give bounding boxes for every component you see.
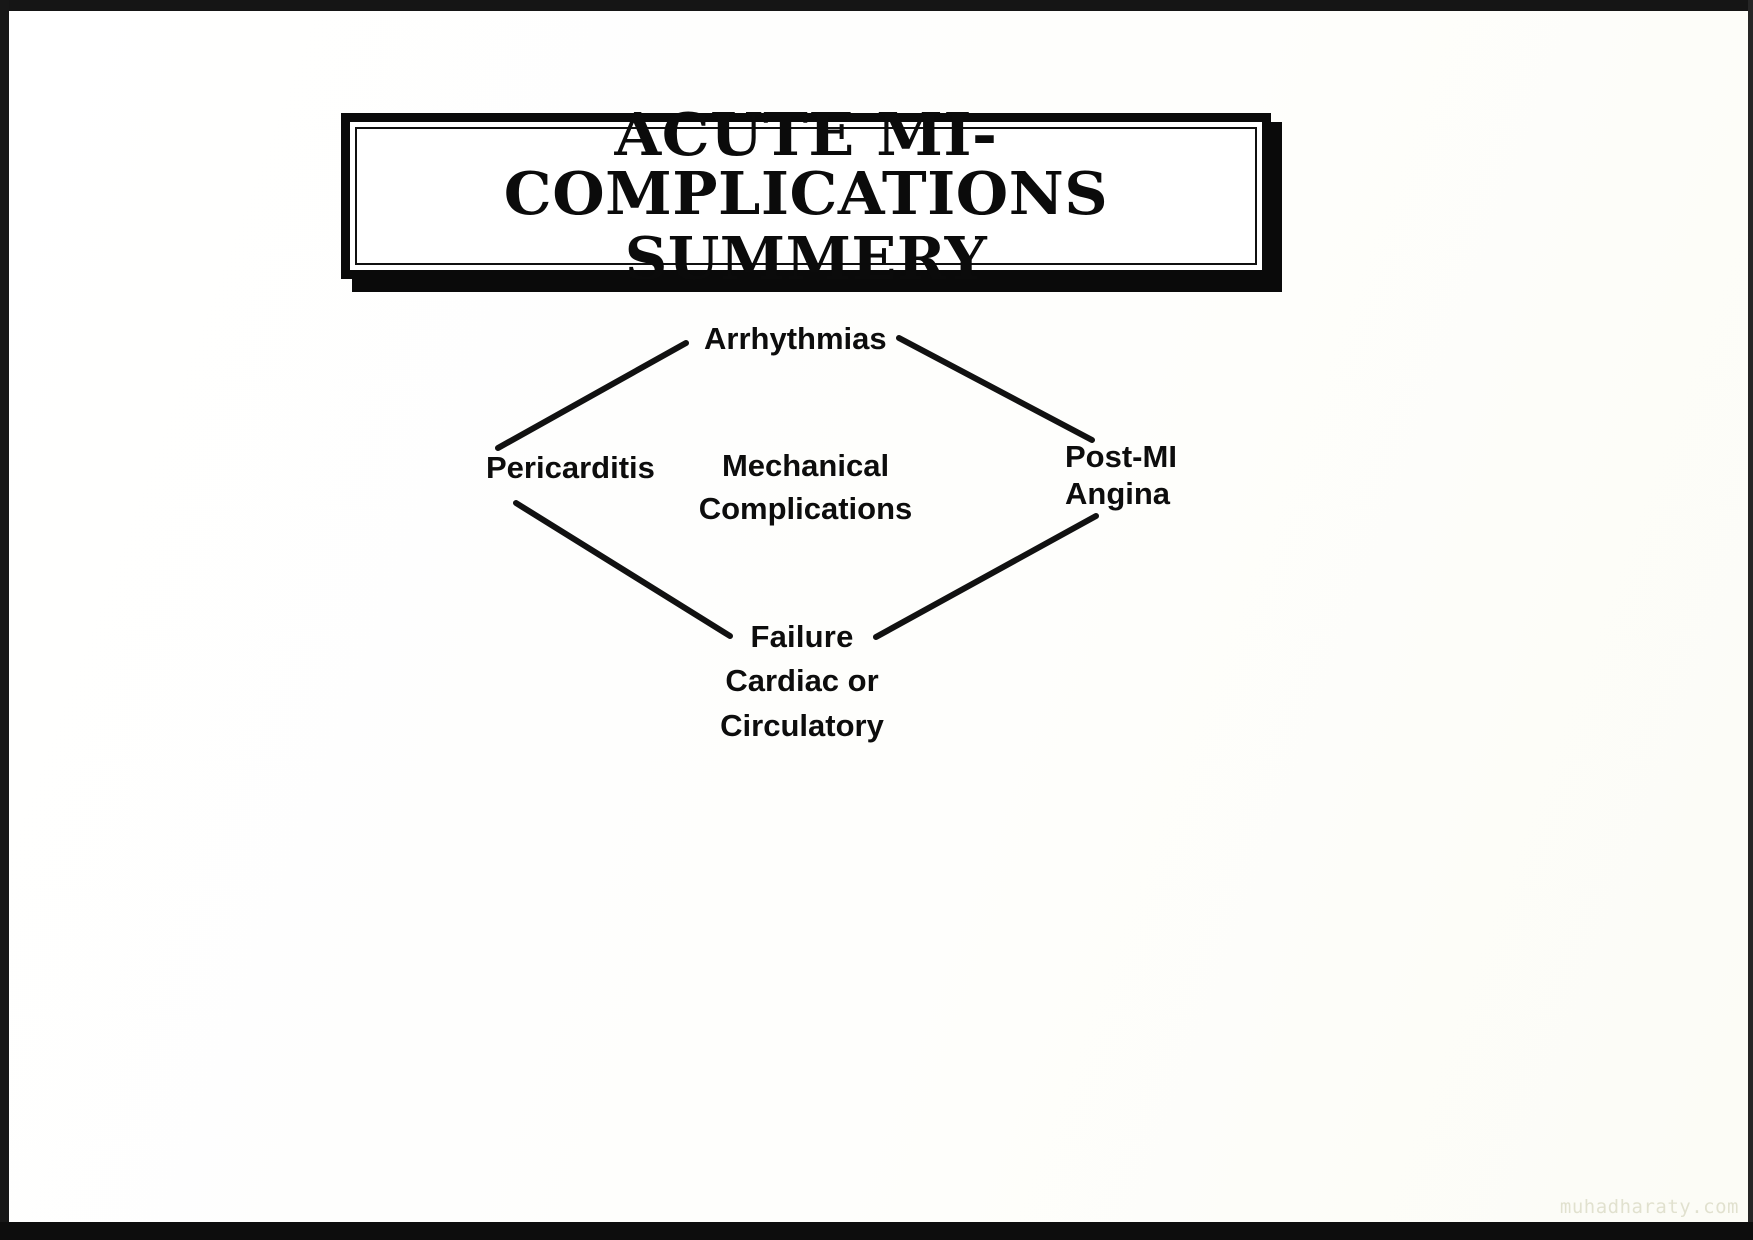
post-mi-line-1: Post-MI — [1065, 439, 1177, 476]
failure-line-2: Cardiac or — [702, 659, 902, 703]
site-watermark: muhadharaty.com — [1560, 1196, 1739, 1218]
connector-failure-postmi — [876, 516, 1096, 637]
slide-page: ACUTE MI-COMPLICATIONS SUMMERY Arrhythmi… — [0, 0, 1753, 1240]
diagram-node-failure: Failure Cardiac or Circulatory — [702, 615, 902, 748]
diagram-node-pericarditis: Pericarditis — [486, 446, 655, 489]
failure-line-1: Failure — [702, 615, 902, 659]
slide-title-line-2: SUMMERY — [625, 229, 987, 288]
mechanical-line-2: Complications — [688, 487, 923, 530]
diagram-node-mechanical-complications: Mechanical Complications — [688, 444, 923, 531]
scan-edge-left — [0, 0, 9, 1240]
diagram-node-post-mi-angina: Post-MI Angina — [1065, 439, 1177, 512]
slide-title-line-1: ACUTE MI-COMPLICATIONS — [348, 105, 1264, 223]
connector-arrhythmias-postmi — [899, 338, 1092, 440]
mechanical-line-1: Mechanical — [688, 444, 923, 487]
failure-line-3: Circulatory — [702, 704, 902, 748]
title-box: ACUTE MI-COMPLICATIONS SUMMERY — [341, 113, 1271, 279]
title-box-inner-border: ACUTE MI-COMPLICATIONS SUMMERY — [355, 127, 1257, 265]
post-mi-line-2: Angina — [1065, 476, 1177, 513]
scan-edge-top — [0, 0, 1753, 11]
scan-edge-bottom — [0, 1222, 1753, 1240]
diagram-node-arrhythmias: Arrhythmias — [704, 317, 887, 360]
complications-diagram: Arrhythmias Pericarditis Mechanical Comp… — [420, 300, 1320, 800]
scan-edge-right — [1748, 0, 1753, 1240]
connector-pericarditis-arrhythmias — [498, 343, 686, 448]
